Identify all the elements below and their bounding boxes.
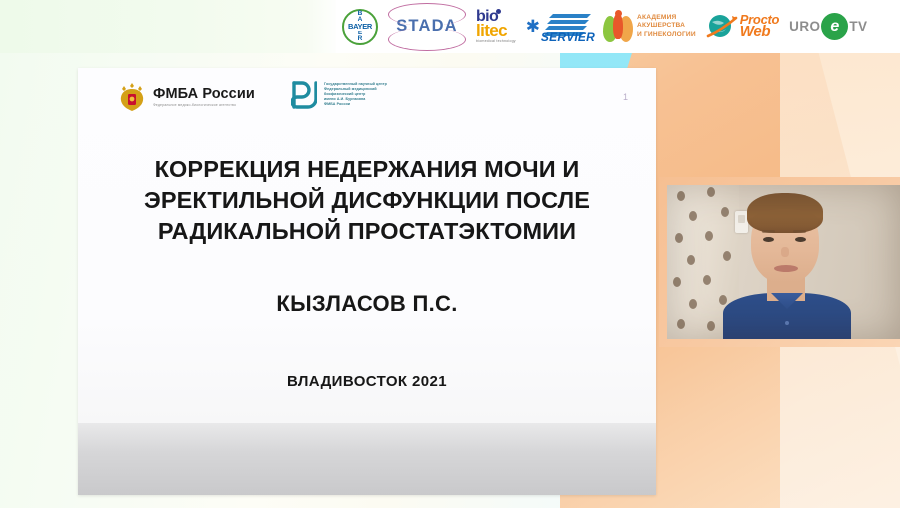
biolitec-label-top: bio: [476, 10, 498, 24]
page-title-line-1: КОРРЕКЦИЯ НЕДЕРЖАНИЯ МОЧИ И: [104, 154, 630, 185]
biolitec-tagline: biomedical technology: [476, 40, 516, 43]
bayer-logo[interactable]: B A Y E R BAYER: [342, 9, 378, 45]
speaker-eye-left: [763, 237, 774, 242]
page-title-line-3: РАДИКАЛЬНОЙ ПРОСТАТЭКТОМИИ: [104, 216, 630, 247]
page-title-line-2: ЭРЕКТИЛЬНОЙ ДИСФУНКЦИИ ПОСЛЕ: [104, 185, 630, 216]
academy-label: АКАДЕМИЯ АКУШЕРСТВА И ГИНЕКОЛОГИИ: [637, 14, 696, 39]
speaker-video-thumbnail[interactable]: [667, 185, 900, 339]
stada-arc-bottom-icon: [388, 28, 466, 51]
bayer-horizontal-label: BAYER: [347, 22, 373, 31]
biolitec-dot-icon: [496, 9, 501, 14]
gnc-logo: Государственный научный центр Федеральны…: [291, 80, 387, 110]
biolitec-label-bottom: litec: [476, 24, 507, 39]
fmba-text: ФМБА России Федеральное медико-биологиче…: [153, 87, 255, 108]
academy-label-line-3: И ГИНЕКОЛОГИИ: [637, 31, 696, 39]
screen-root: B A Y E R BAYER STADA bio litec biomedic…: [0, 0, 900, 508]
servier-wing-icon: SERVIER: [543, 12, 593, 42]
presentation-slide[interactable]: ФМБА России Федеральное медико-биологиче…: [78, 68, 656, 495]
biolitec-logo[interactable]: bio litec biomedical technology: [476, 10, 516, 43]
speaker-eye-right: [795, 237, 806, 242]
gnc-line-5: ФМБА России: [324, 102, 387, 107]
fmba-title: ФМБА России: [153, 87, 255, 102]
speaker-brow-left: [762, 230, 775, 233]
proctoweb-label: Procto Web: [740, 15, 779, 39]
bayer-cross-icon: B A Y E R BAYER: [342, 9, 378, 45]
slide-body: КОРРЕКЦИЯ НЕДЕРЖАНИЯ МОЧИ И ЭРЕКТИЛЬНОЙ …: [78, 132, 656, 390]
servier-logo[interactable]: ✱ SERVIER: [526, 12, 593, 42]
proctoweb-logo[interactable]: Procto Web: [706, 12, 779, 42]
academy-label-line-2: АКУШЕРСТВА: [637, 22, 696, 30]
fmba-subtitle: Федеральное медико-биологическое агентст…: [153, 104, 255, 108]
servier-label: SERVIER: [541, 30, 595, 44]
coat-of-arms-icon: [118, 82, 146, 112]
urotv-label-prefix: URO: [789, 19, 820, 34]
academy-figure-icon: [603, 10, 633, 44]
stada-arc-top-icon: [388, 3, 466, 26]
urotv-swirl-icon: e: [821, 13, 848, 40]
globe-icon: [706, 12, 738, 42]
stada-logo[interactable]: STADA: [388, 8, 466, 46]
fmba-logo: ФМБА России Федеральное медико-биологиче…: [118, 82, 255, 112]
speaker-mouth: [774, 265, 798, 272]
academy-label-line-1: АКАДЕМИЯ: [637, 14, 696, 22]
page-title: КОРРЕКЦИЯ НЕДЕРЖАНИЯ МОЧИ И ЭРЕКТИЛЬНОЙ …: [104, 154, 630, 247]
slide-number: 1: [623, 92, 628, 102]
gnc-heart-icon: [291, 80, 317, 110]
urotv-logo[interactable]: URO e TV: [789, 13, 867, 40]
academy-logo[interactable]: АКАДЕМИЯ АКУШЕРСТВА И ГИНЕКОЛОГИИ: [603, 10, 696, 44]
place-and-year: ВЛАДИВОСТОК 2021: [78, 373, 656, 390]
author-name: КЫЗЛАСОВ П.С.: [78, 291, 656, 317]
urotv-mark-letter: e: [830, 18, 839, 36]
sponsor-logo-bar: B A Y E R BAYER STADA bio litec biomedic…: [0, 0, 900, 53]
speaker-nose: [781, 247, 789, 257]
gnc-text: Государственный научный центр Федеральны…: [324, 82, 387, 107]
urotv-label-suffix: TV: [849, 19, 867, 34]
proctoweb-label-bottom: Web: [740, 26, 779, 39]
speaker-hair: [747, 193, 823, 233]
slide-footer-band: [78, 423, 656, 495]
speaker-brow-right: [793, 230, 806, 233]
servier-star-icon: ✱: [526, 18, 540, 35]
slide-header: ФМБА России Федеральное медико-биологиче…: [78, 68, 656, 132]
speaker-shirt-button: [785, 321, 789, 325]
sponsor-logo-row: B A Y E R BAYER STADA bio litec biomedic…: [336, 0, 900, 53]
